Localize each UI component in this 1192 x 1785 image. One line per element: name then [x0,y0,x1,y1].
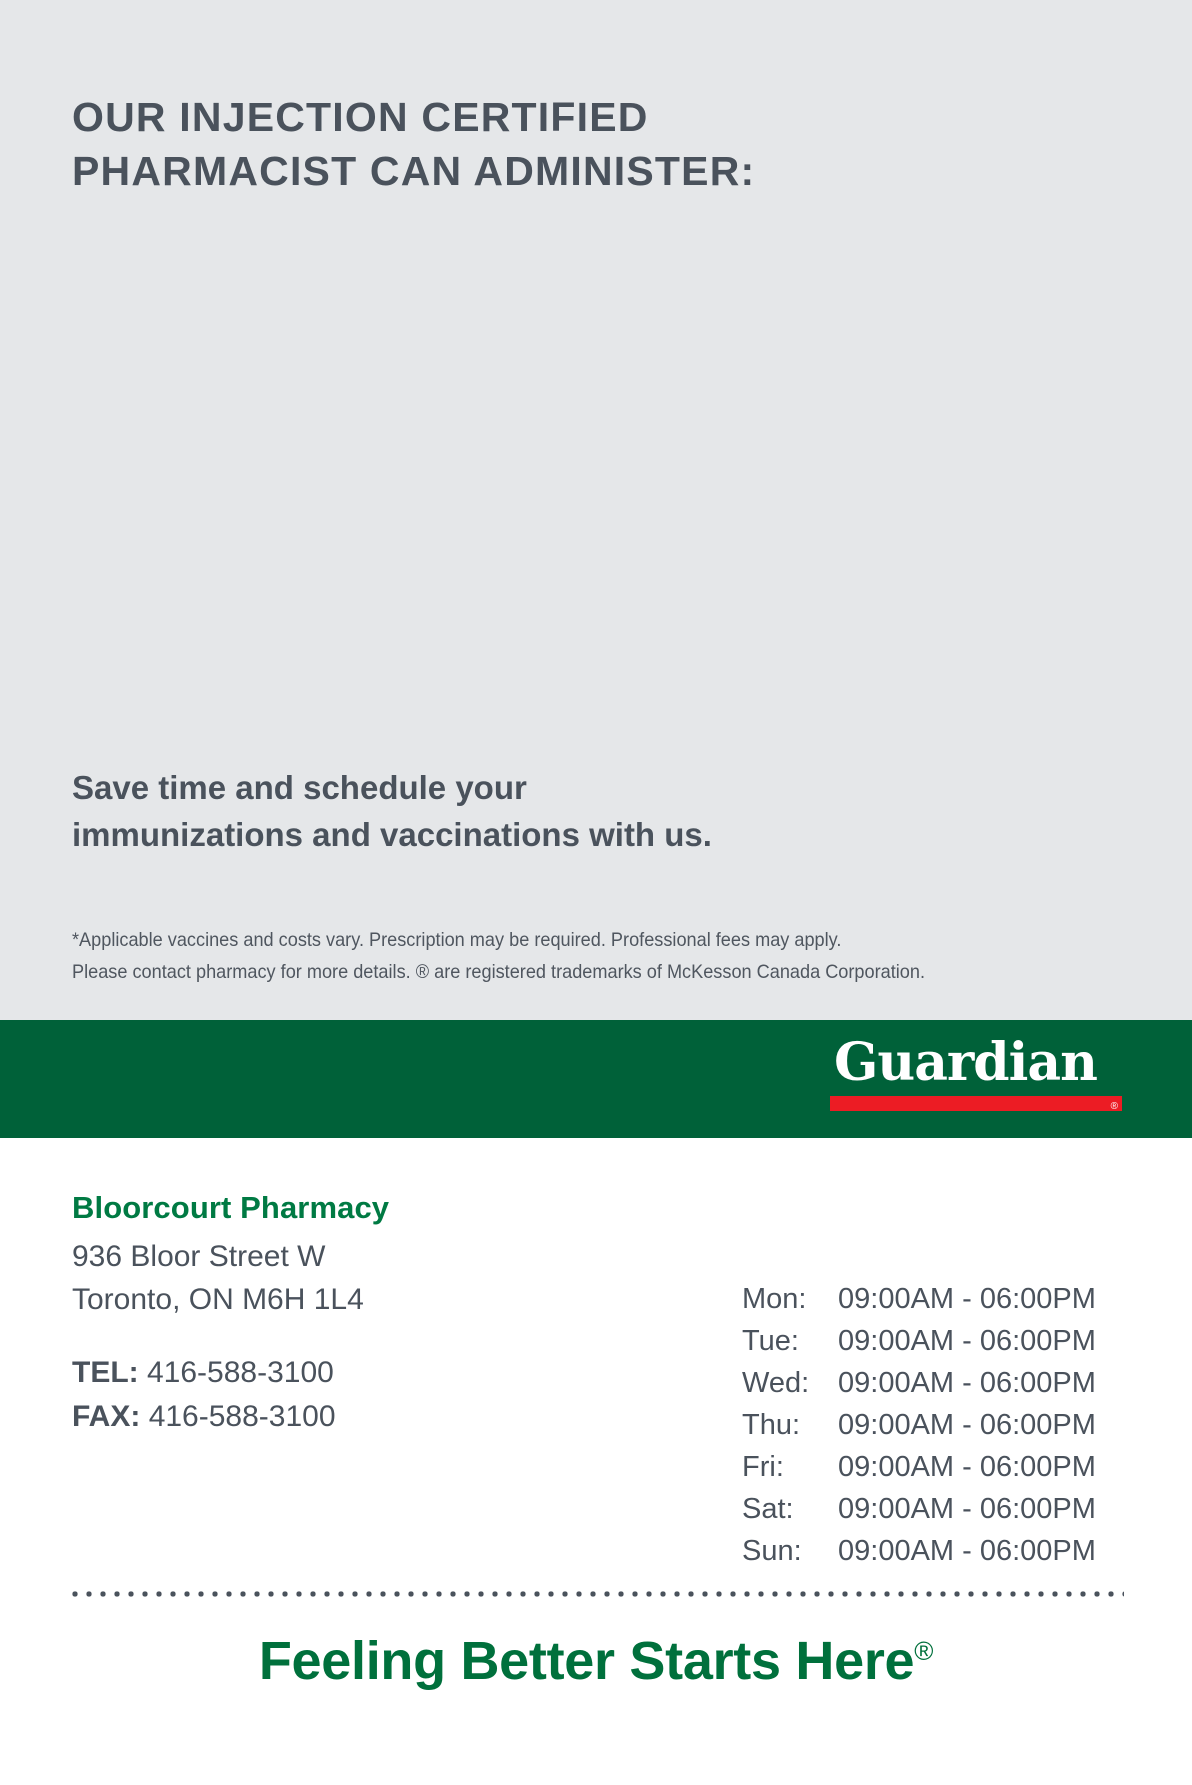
hours-row: Thu: 09:00AM - 06:00PM [742,1404,1142,1446]
promo-panel: OUR INJECTION CERTIFIED PHARMACIST CAN A… [0,0,1192,1040]
hours-day-label: Thu: [742,1404,838,1446]
hours-row: Sun: 09:00AM - 06:00PM [742,1530,1142,1572]
subhead-line-1: Save time and schedule your [72,765,912,812]
hours-day-label: Fri: [742,1446,838,1488]
store-contact: TEL: 416-588-3100 FAX: 416-588-3100 [72,1351,712,1438]
disclaimer-line-2: Please contact pharmacy for more details… [72,957,1039,989]
dotted-divider [68,1590,1124,1598]
tagline-registered-icon: ® [914,1636,933,1666]
hours-time-value: 09:00AM - 06:00PM [838,1404,1096,1446]
store-telephone: TEL: 416-588-3100 [72,1351,712,1395]
store-name: Bloorcourt Pharmacy [72,1190,712,1226]
logo-red-bar: ® [830,1096,1122,1111]
page-title: OUR INJECTION CERTIFIED PHARMACIST CAN A… [72,90,952,198]
store-hours: Mon: 09:00AM - 06:00PM Tue: 09:00AM - 06… [742,1278,1142,1572]
hours-row: Tue: 09:00AM - 06:00PM [742,1320,1142,1362]
telephone-value: 416-588-3100 [147,1356,334,1389]
tagline-text: Feeling Better Starts Here [259,1631,914,1691]
disclaimer-line-1: *Applicable vaccines and costs vary. Pre… [72,925,1039,957]
hours-time-value: 09:00AM - 06:00PM [838,1446,1096,1488]
hours-day-label: Sat: [742,1488,838,1530]
guardian-wordmark: Guardian [830,1036,1126,1091]
fax-value: 416-588-3100 [149,1400,336,1433]
store-info: Bloorcourt Pharmacy 936 Bloor Street W T… [72,1190,712,1438]
headline-line-1: OUR INJECTION CERTIFIED [72,90,952,144]
store-address-line-1: 936 Bloor Street W [72,1236,712,1279]
hours-day-label: Mon: [742,1278,838,1320]
registered-mark-icon: ® [1111,1102,1118,1112]
subhead-line-2: immunizations and vaccinations with us. [72,812,912,859]
headline-line-2: PHARMACIST CAN ADMINISTER: [72,144,952,198]
disclaimer-text: *Applicable vaccines and costs vary. Pre… [72,925,1112,988]
hours-row: Mon: 09:00AM - 06:00PM [742,1278,1142,1320]
hours-time-value: 09:00AM - 06:00PM [838,1278,1096,1320]
fax-label: FAX: [72,1400,140,1433]
pharmacy-flyer: OUR INJECTION CERTIFIED PHARMACIST CAN A… [0,0,1192,1785]
hours-day-label: Wed: [742,1362,838,1404]
hours-time-value: 09:00AM - 06:00PM [838,1530,1096,1572]
store-address-line-2: Toronto, ON M6H 1L4 [72,1279,712,1322]
hours-time-value: 09:00AM - 06:00PM [838,1362,1096,1404]
store-fax: FAX: 416-588-3100 [72,1395,712,1439]
brand-tagline: Feeling Better Starts Here® [0,1630,1192,1692]
telephone-label: TEL: [72,1356,139,1389]
guardian-logo: Guardian ® [830,1036,1126,1111]
hours-row: Fri: 09:00AM - 06:00PM [742,1446,1142,1488]
hours-row: Wed: 09:00AM - 06:00PM [742,1362,1142,1404]
hours-day-label: Sun: [742,1530,838,1572]
hours-time-value: 09:00AM - 06:00PM [838,1320,1096,1362]
hours-row: Sat: 09:00AM - 06:00PM [742,1488,1142,1530]
promo-subheading: Save time and schedule your immunization… [72,765,912,859]
hours-time-value: 09:00AM - 06:00PM [838,1488,1096,1530]
hours-day-label: Tue: [742,1320,838,1362]
